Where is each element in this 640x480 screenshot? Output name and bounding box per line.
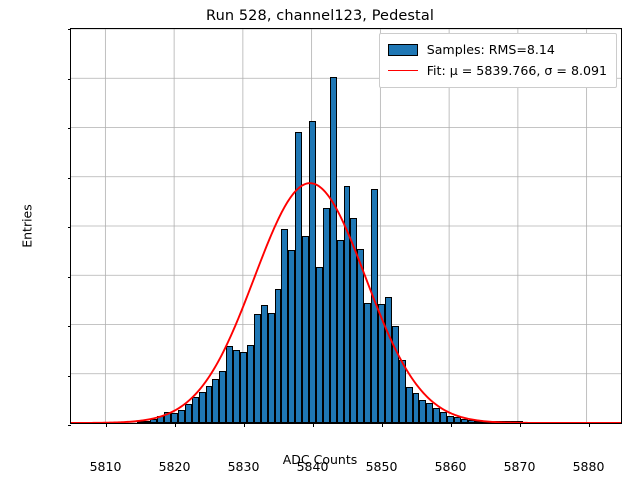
- x-tick-mark: [589, 423, 590, 427]
- y-axis-label: Entries: [20, 204, 35, 248]
- y-tick-mark: [68, 227, 72, 228]
- chart-legend: Samples: RMS=8.14 Fit: μ = 5839.766, σ =…: [379, 33, 617, 88]
- chart-title: Run 528, channel123, Pedestal: [0, 8, 640, 24]
- chart-figure: Run 528, channel123, Pedestal 0100200300…: [0, 0, 640, 480]
- legend-label-fit: Fit: μ = 5839.766, σ = 8.091: [427, 63, 607, 78]
- bar-swatch-icon: [388, 43, 418, 56]
- y-tick-mark: [68, 178, 72, 179]
- x-tick-mark: [451, 423, 452, 427]
- gaussian-fit-curve: [71, 29, 621, 423]
- y-tick-mark: [68, 29, 72, 30]
- y-tick-mark: [68, 326, 72, 327]
- line-swatch-icon: [388, 64, 418, 77]
- y-tick-mark: [68, 277, 72, 278]
- x-tick-mark: [520, 423, 521, 427]
- x-tick-mark: [244, 423, 245, 427]
- legend-item-fit: Fit: μ = 5839.766, σ = 8.091: [388, 60, 607, 81]
- fit-path: [71, 183, 621, 423]
- y-tick-mark: [68, 79, 72, 80]
- y-tick-mark: [68, 128, 72, 129]
- legend-label-samples: Samples: RMS=8.14: [427, 42, 555, 57]
- plot-area: 0100200300400500600700800581058205830584…: [70, 28, 622, 424]
- x-axis-label: ADC Counts: [0, 452, 640, 467]
- x-tick-mark: [382, 423, 383, 427]
- x-tick-mark: [313, 423, 314, 427]
- y-tick-mark: [68, 376, 72, 377]
- x-tick-mark: [106, 423, 107, 427]
- legend-item-samples: Samples: RMS=8.14: [388, 39, 607, 60]
- y-tick-mark: [68, 425, 72, 426]
- x-tick-mark: [175, 423, 176, 427]
